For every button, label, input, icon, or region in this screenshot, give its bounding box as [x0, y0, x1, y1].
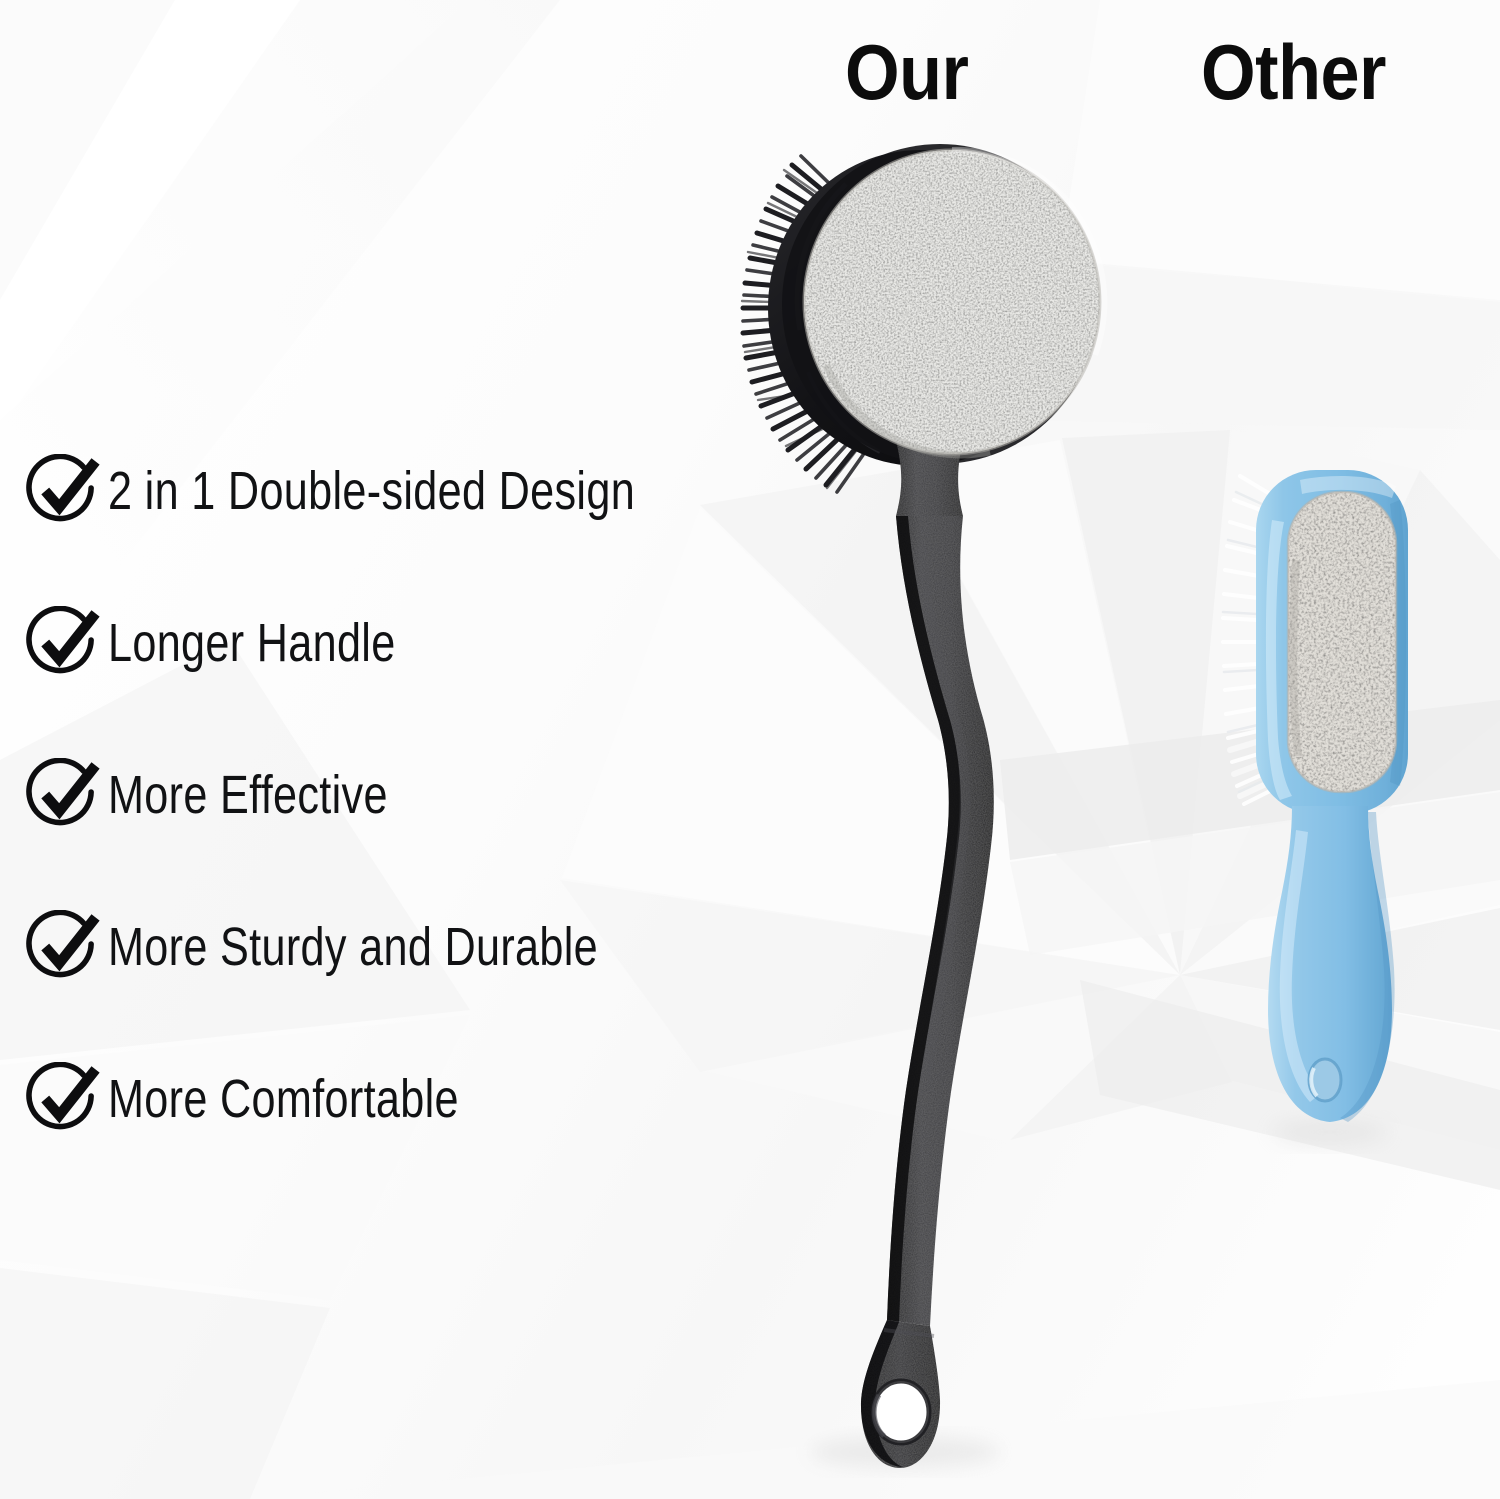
- feature-label: More Effective: [108, 768, 388, 822]
- check-circle-icon: [26, 606, 100, 680]
- product-comparison-image: Our Other 2 in 1 Double-sided Design Lon…: [0, 0, 1500, 1499]
- column-header-ours: Our: [845, 33, 968, 111]
- column-header-theirs: Other: [1201, 33, 1386, 111]
- check-circle-icon: [26, 1062, 100, 1136]
- list-item: Longer Handle: [26, 604, 846, 682]
- list-item: More Sturdy and Durable: [26, 908, 846, 986]
- feature-label: More Comfortable: [108, 1072, 459, 1126]
- feature-label: 2 in 1 Double-sided Design: [108, 464, 635, 518]
- list-item: More Comfortable: [26, 1060, 846, 1138]
- check-circle-icon: [26, 910, 100, 984]
- list-item: 2 in 1 Double-sided Design: [26, 452, 846, 530]
- check-circle-icon: [26, 454, 100, 528]
- list-item: More Effective: [26, 756, 846, 834]
- feature-label: Longer Handle: [108, 616, 396, 670]
- check-circle-icon: [26, 758, 100, 832]
- feature-benefit-list: 2 in 1 Double-sided Design Longer Handle…: [26, 452, 846, 1138]
- feature-label: More Sturdy and Durable: [108, 920, 598, 974]
